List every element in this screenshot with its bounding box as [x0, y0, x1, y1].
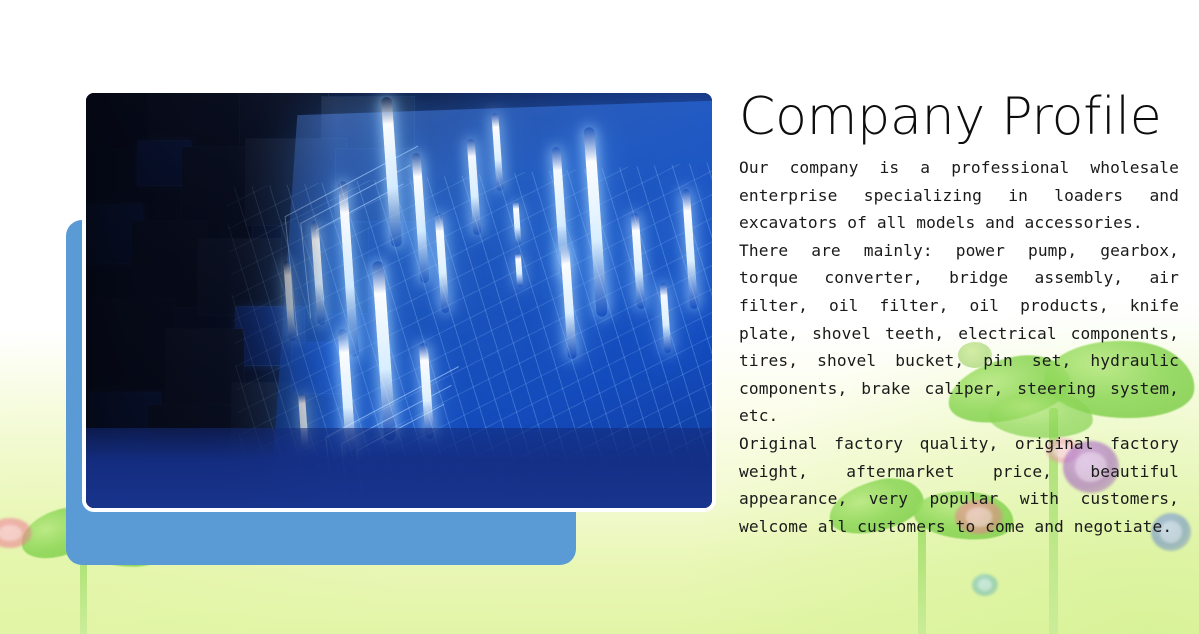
- technology-photo: [86, 93, 712, 508]
- text-column: Company Profile Our company is a profess…: [739, 86, 1179, 540]
- decor-circle-teal: [972, 574, 998, 596]
- slide-canvas: Company Profile Our company is a profess…: [0, 0, 1199, 634]
- photo-bottom-band: [86, 428, 712, 508]
- page-title: Company Profile: [739, 86, 1179, 148]
- body-text-block: Our company is a professional wholesale …: [739, 154, 1179, 540]
- body-paragraph: Original factory quality, original facto…: [739, 430, 1179, 540]
- body-paragraph: There are mainly: power pump, gearbox, t…: [739, 237, 1179, 430]
- body-paragraph: Our company is a professional wholesale …: [739, 154, 1179, 237]
- photo-frame: [82, 89, 716, 512]
